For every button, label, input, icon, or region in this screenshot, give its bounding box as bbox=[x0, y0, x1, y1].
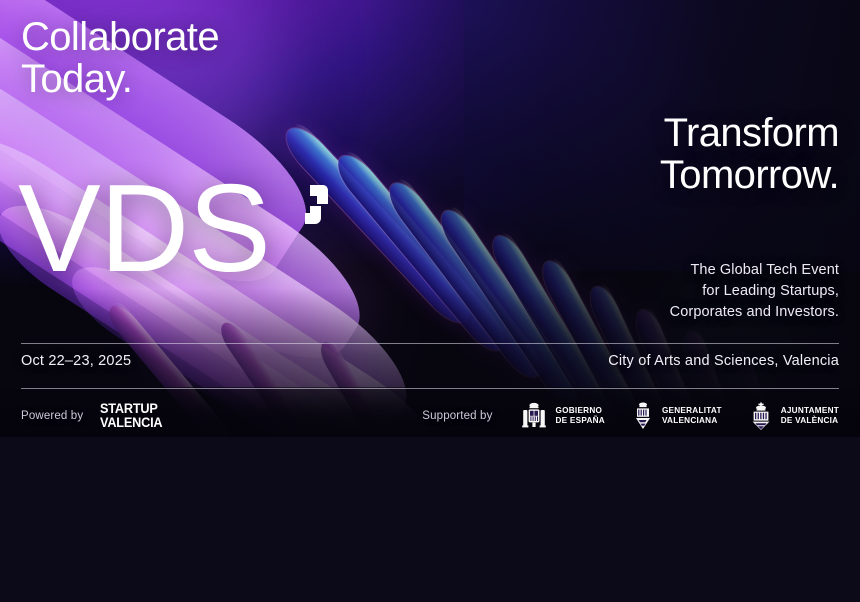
hero-banner: Collaborate Today. Transform Tomorrow. T… bbox=[0, 0, 860, 437]
powered-by-label: Powered by bbox=[21, 410, 83, 422]
event-meta: Oct 22–23, 2025 City of Arts and Science… bbox=[21, 353, 839, 369]
powered-by-group: Powered by STARTUP VALENCIA bbox=[21, 402, 165, 430]
tagline: The Global Tech Event for Leading Startu… bbox=[670, 260, 839, 323]
page-background bbox=[0, 437, 860, 602]
partner-gobierno-line-2: DE ESPAÑA bbox=[556, 416, 605, 426]
event-date: Oct 22–23, 2025 bbox=[21, 353, 131, 369]
startup-valencia-logo[interactable]: STARTUP VALENCIA bbox=[100, 402, 162, 430]
partner-generalitat-line-1: GENERALITAT bbox=[662, 406, 722, 416]
tagline-line-2: for Leading Startups, bbox=[670, 281, 839, 302]
headline-right: Transform Tomorrow. bbox=[660, 112, 839, 197]
partner-generalitat-valenciana[interactable]: GENERALITAT VALENCIANA bbox=[631, 401, 722, 431]
supported-by-label: Supported by bbox=[422, 410, 492, 422]
partner-ajuntament-line-2: DE VALÈNCIA bbox=[781, 416, 839, 426]
headline-left-line-2: Today. bbox=[21, 58, 219, 100]
headline-left: Collaborate Today. bbox=[21, 16, 219, 101]
startup-valencia-line-2: VALENCIA bbox=[100, 416, 162, 430]
partner-gobierno-text: GOBIERNO DE ESPAÑA bbox=[556, 406, 605, 427]
partner-generalitat-line-2: VALENCIANA bbox=[662, 416, 722, 426]
startup-valencia-line-1: STARTUP bbox=[100, 402, 162, 416]
partner-ajuntament-de-valencia[interactable]: AJUNTAMENT DE VALÈNCIA bbox=[748, 401, 839, 431]
vds-logo: VDS bbox=[18, 176, 336, 283]
partner-gobierno-line-1: GOBIERNO bbox=[556, 406, 605, 416]
partner-ajuntament-line-1: AJUNTAMENT bbox=[781, 406, 839, 416]
tagline-line-3: Corporates and Investors. bbox=[670, 302, 839, 323]
partner-generalitat-text: GENERALITAT VALENCIANA bbox=[662, 406, 722, 427]
partner-ajuntament-text: AJUNTAMENT DE VALÈNCIA bbox=[781, 406, 839, 427]
vds-arrow-mark-icon bbox=[274, 182, 336, 245]
tagline-line-1: The Global Tech Event bbox=[670, 260, 839, 281]
headline-right-line-1: Transform bbox=[660, 112, 839, 154]
event-venue: City of Arts and Sciences, Valencia bbox=[608, 353, 839, 369]
spain-coat-of-arms-icon bbox=[519, 401, 549, 431]
supported-by-group: Supported by bbox=[422, 401, 839, 431]
headline-left-line-1: Collaborate bbox=[21, 16, 219, 58]
sponsor-footer: Powered by STARTUP VALENCIA Supported by bbox=[21, 398, 839, 434]
headline-right-line-2: Tomorrow. bbox=[660, 154, 839, 196]
divider-top bbox=[21, 343, 839, 344]
generalitat-crest-icon bbox=[631, 401, 655, 431]
partner-gobierno-de-espana[interactable]: GOBIERNO DE ESPAÑA bbox=[519, 401, 605, 431]
vds-logo-text: VDS bbox=[18, 176, 270, 283]
divider-bottom bbox=[21, 388, 839, 389]
valencia-city-crest-icon bbox=[748, 401, 774, 431]
